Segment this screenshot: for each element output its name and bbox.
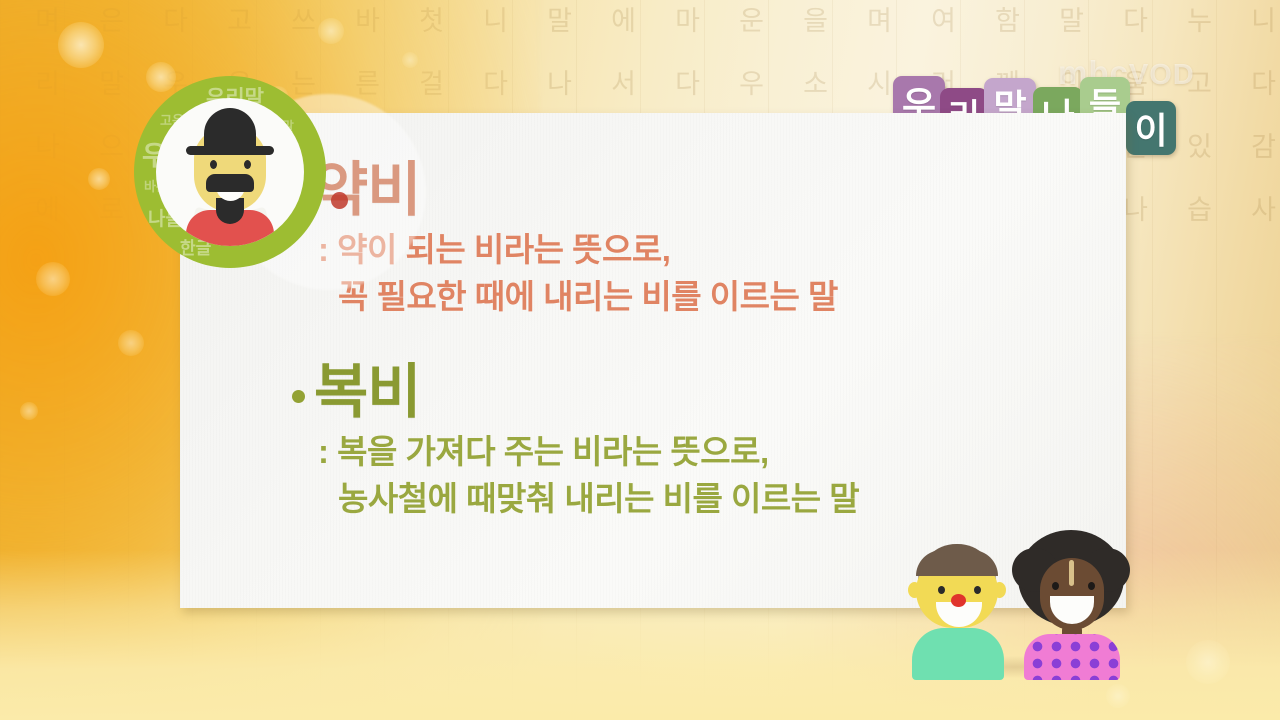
kid-characters	[908, 530, 1128, 670]
term-definition: : 복을 가져다 주는 비라는 뜻으로,농사철에 때맞춰 내리는 비를 이르는 …	[318, 429, 1102, 523]
avatar-mustache	[206, 174, 254, 192]
girl-dress-polka-dots	[1024, 634, 1120, 680]
term-heading: 복비	[314, 363, 421, 422]
boy-eye-left	[938, 586, 945, 594]
girl-eye-left	[1052, 582, 1059, 590]
vocabulary-entry: 복비 : 복을 가져다 주는 비라는 뜻으로,농사철에 때맞춰 내리는 비를 이…	[292, 363, 1102, 523]
bullet-icon	[292, 390, 305, 403]
avatar-eye-right	[244, 160, 251, 169]
definition-line-1: : 복을 가져다 주는 비라는 뜻으로,	[318, 433, 769, 470]
boy-fringe	[916, 550, 998, 576]
definition-line-2: 농사철에 때맞춰 내리는 비를 이르는 말	[318, 476, 1102, 523]
definition-line-2: 꼭 필요한 때에 내리는 비를 이르는 말	[318, 274, 1102, 321]
avatar-gat-crown	[204, 108, 256, 154]
avatar-accent-dot	[331, 192, 348, 209]
term-line: 복비	[292, 363, 1102, 422]
girl-hair-part	[1069, 560, 1074, 586]
girl-eye-right	[1088, 582, 1095, 590]
term-definition: : 약이 되는 비라는 뜻으로,꼭 필요한 때에 내리는 비를 이르는 말	[318, 227, 1102, 321]
avatar-inner-disc	[156, 98, 304, 246]
broadcast-screen: 며 리 나 에은 말 으 로다 우 리 말고 운 말 을쓰 는 것 이바 른 말…	[0, 0, 1280, 720]
host-avatar: 우리말 고운말 우리 바른말 나들이 한글 고운말	[134, 76, 326, 268]
avatar-eye-left	[210, 160, 217, 169]
boy-nose	[951, 594, 966, 607]
logo-tile-i: 이	[1126, 101, 1176, 155]
boy-shirt	[912, 628, 1004, 680]
boy-eye-right	[974, 586, 981, 594]
